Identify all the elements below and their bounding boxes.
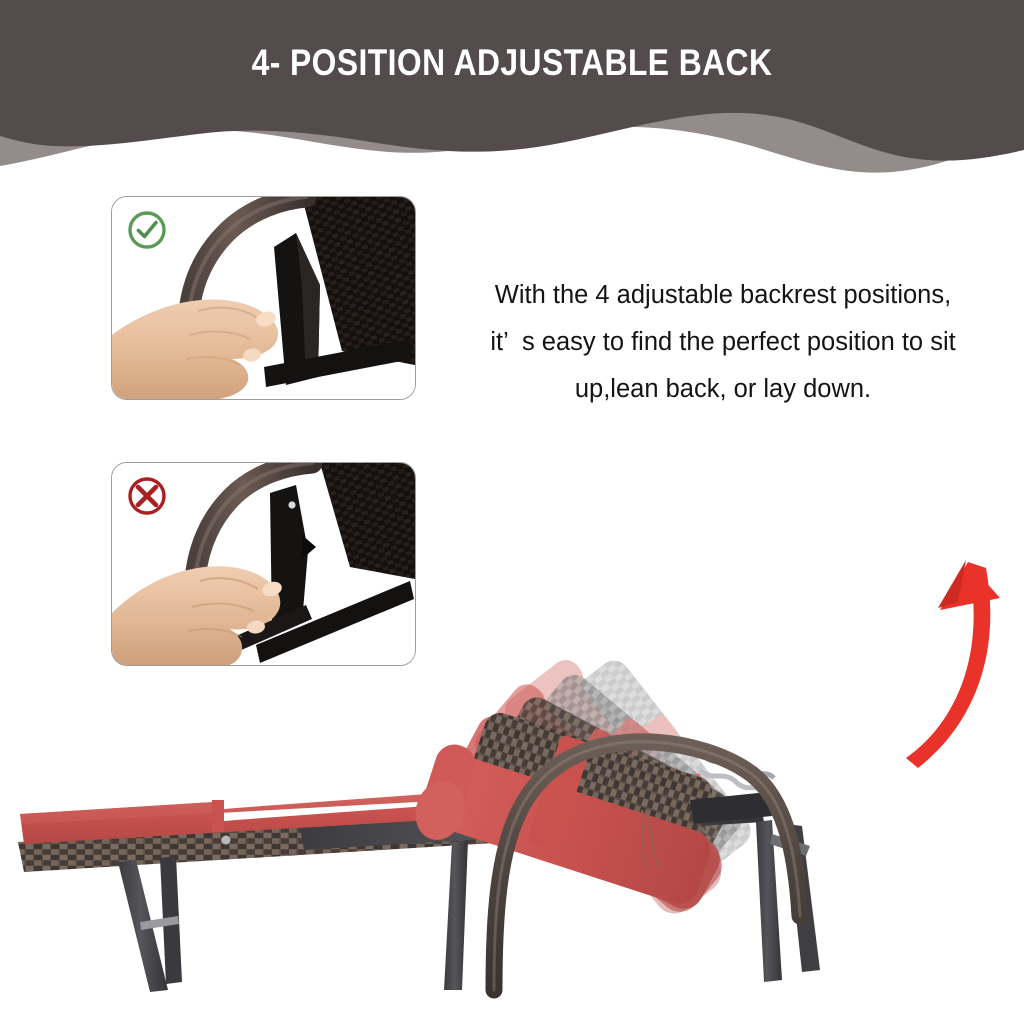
description-line-2: it’ s easy to find the perfect position …	[440, 319, 1006, 366]
legs-front-left	[118, 856, 182, 992]
page-title: 4- POSITION ADJUSTABLE BACK	[72, 42, 953, 84]
product-illustration	[0, 470, 1024, 1024]
description-line-3: up,lean back, or lay down.	[440, 366, 1006, 413]
recline-direction-arrow	[906, 560, 1000, 768]
infographic-page: 4- POSITION ADJUSTABLE BACK	[0, 0, 1024, 1024]
check-circle-icon	[124, 207, 170, 253]
description-line-1: With the 4 adjustable backrest positions…	[440, 272, 1006, 319]
header-banner: 4- POSITION ADJUSTABLE BACK	[0, 0, 1024, 185]
correct-usage-photo-card	[111, 196, 416, 400]
chaise-lounge-graphic	[0, 470, 1024, 1024]
header-wave-graphic	[0, 0, 1024, 185]
description-text: With the 4 adjustable backrest positions…	[440, 272, 1006, 413]
